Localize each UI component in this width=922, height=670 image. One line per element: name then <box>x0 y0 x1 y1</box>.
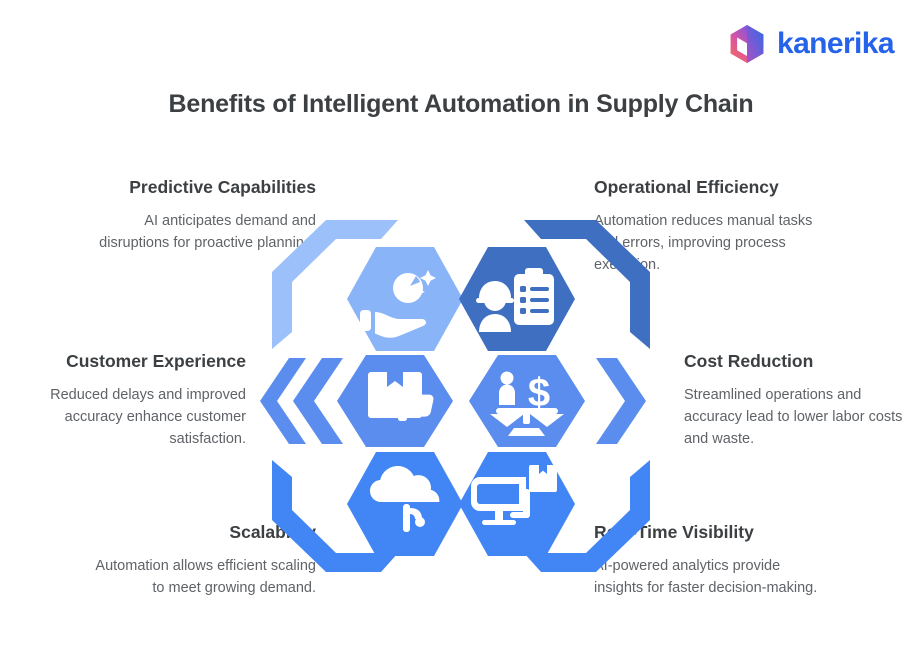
chevron-right-icon <box>596 358 646 444</box>
chevron-left-inner-icon <box>293 358 343 444</box>
brand-logo: kanerika <box>728 24 894 64</box>
hex-group-operational-efficiency[interactable] <box>459 220 650 351</box>
page-title: Benefits of Intelligent Automation in Su… <box>0 90 922 119</box>
brand-name: kanerika <box>777 29 894 59</box>
cube-logo-icon <box>728 24 766 64</box>
hex-group-cost-reduction[interactable]: $ <box>469 355 646 447</box>
hex-group-predictive-capabilities[interactable] <box>272 220 463 351</box>
hex-group-scalability[interactable] <box>272 443 463 572</box>
benefit-block-customer-experience: Customer Experience Reduced delays and i… <box>14 351 246 450</box>
hex-group-real-time-visibility[interactable] <box>459 443 650 572</box>
benefit-heading: Predictive Capabilities <box>84 177 316 199</box>
hexagon-cluster: $ <box>248 212 674 580</box>
benefit-block-cost-reduction: Cost Reduction Streamlined operations an… <box>684 351 916 450</box>
benefit-heading: Operational Efficiency <box>594 177 826 199</box>
benefit-heading: Customer Experience <box>14 351 246 373</box>
hex-group-customer-experience[interactable] <box>260 355 453 447</box>
infographic-page: kanerika Benefits of Intelligent Automat… <box>0 0 922 670</box>
benefit-body: Streamlined operations and accuracy lead… <box>684 384 916 450</box>
benefit-body: Reduced delays and improved accuracy enh… <box>14 384 246 450</box>
benefit-heading: Cost Reduction <box>684 351 916 373</box>
